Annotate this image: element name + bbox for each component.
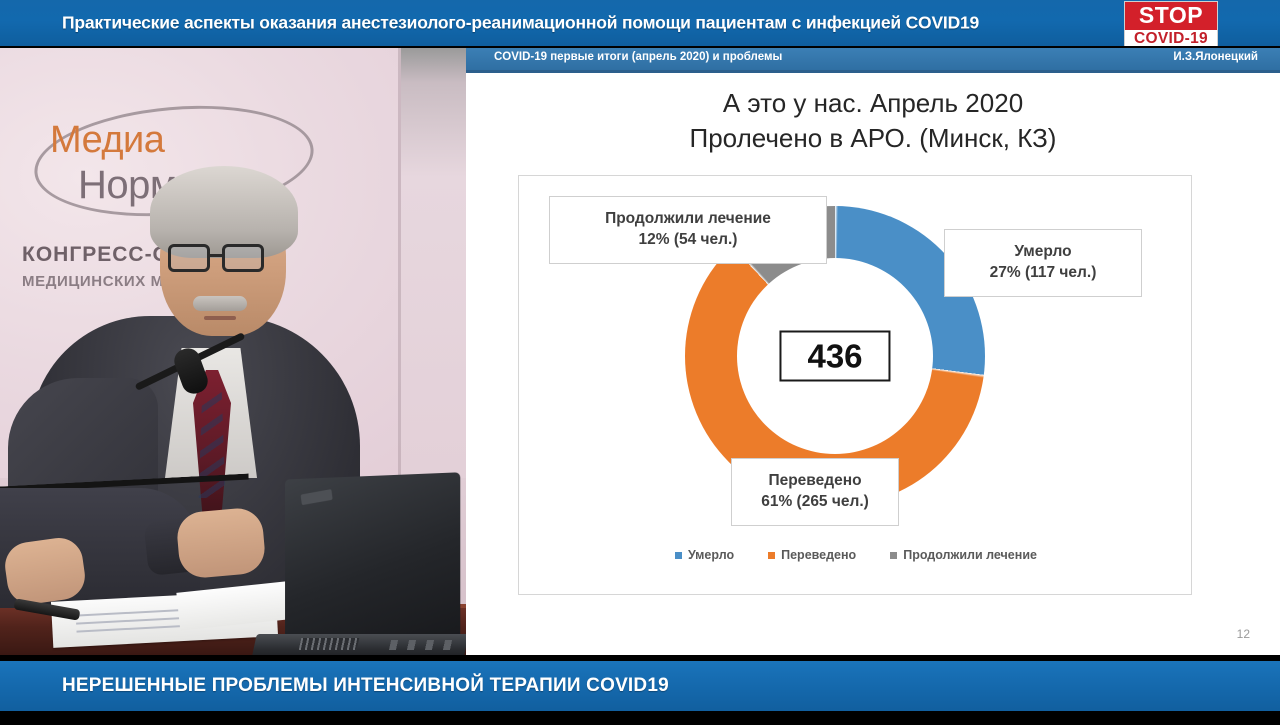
slide-header-bar: COVID-19 первые итоги (апрель 2020) и пр… — [466, 48, 1280, 70]
legend-item-0: Умерло — [675, 548, 734, 562]
backdrop-seam — [398, 48, 401, 478]
logo-text-media: Медиа — [50, 119, 164, 162]
speaker-right-hand — [175, 506, 266, 579]
bottom-black-strip-2 — [0, 711, 1280, 725]
slide-header-author: И.З.Ялонецкий — [1173, 51, 1258, 63]
slide-page-number: 12 — [1237, 627, 1250, 641]
bottom-banner-title: НЕРЕШЕННЫЕ ПРОБЛЕМЫ ИНТЕНСИВНОЙ ТЕРАПИИ … — [62, 675, 669, 697]
doughnut-center-total: 436 — [807, 340, 862, 373]
slide-header-underline — [466, 70, 1280, 73]
legend-swatch-icon — [675, 552, 682, 559]
callout-died-label: Умерло — [959, 242, 1127, 263]
callout-transferred-value: 61% (265 чел.) — [746, 492, 884, 513]
legend-label: Продолжили лечение — [903, 548, 1037, 562]
callout-continued-value: 12% (54 чел.) — [564, 230, 812, 251]
speaker-glasses-bridge — [209, 254, 223, 257]
speaker-glasses-left — [168, 244, 210, 272]
top-banner-title: Практические аспекты оказания анестезиол… — [62, 13, 979, 34]
legend-swatch-icon — [890, 552, 897, 559]
slide-title-line1: А это у нас. Апрель 2020 — [723, 88, 1023, 118]
legend-label: Переведено — [781, 548, 856, 562]
legend-swatch-icon — [768, 552, 775, 559]
speaker-mustache — [193, 296, 247, 311]
presentation-slide-panel: COVID-19 первые итоги (апрель 2020) и пр… — [466, 48, 1280, 655]
bottom-banner: НЕРЕШЕННЫЕ ПРОБЛЕМЫ ИНТЕНСИВНОЙ ТЕРАПИИ … — [0, 661, 1280, 711]
slide-title-line2: Пролечено в АРО. (Минск, КЗ) — [466, 121, 1280, 156]
callout-died: Умерло 27% (117 чел.) — [944, 229, 1142, 297]
callout-died-value: 27% (117 чел.) — [959, 263, 1127, 284]
legend-item-1: Переведено — [768, 548, 856, 562]
speaker-glasses-right — [222, 244, 264, 272]
stop-logo-word: STOP — [1125, 2, 1217, 30]
laptop-screen — [285, 472, 460, 652]
laptop-ports — [389, 640, 457, 650]
callout-transferred-label: Переведено — [746, 471, 884, 492]
legend-item-2: Продолжили лечение — [890, 548, 1037, 562]
laptop-logo — [301, 489, 333, 505]
slide-title: А это у нас. Апрель 2020 Пролечено в АРО… — [466, 86, 1280, 155]
slide-header-topic: COVID-19 первые итоги (апрель 2020) и пр… — [494, 51, 782, 63]
callout-continued-label: Продолжили лечение — [564, 209, 812, 230]
laptop-vent — [299, 638, 360, 650]
speaker-mouth — [204, 316, 236, 320]
backdrop-right-wall — [401, 48, 466, 478]
callout-transferred: Переведено 61% (265 чел.) — [731, 458, 899, 526]
chart-container: 436 Продолжили лечение 12% (54 чел.) Уме… — [518, 175, 1192, 595]
stop-covid-logo: STOP COVID-19 — [1124, 1, 1218, 46]
screenshot-root: Практические аспекты оказания анестезиол… — [0, 0, 1280, 725]
chart-legend: УмерлоПереведеноПродолжили лечение — [519, 548, 1193, 562]
legend-label: Умерло — [688, 548, 734, 562]
doughnut-center-total-box: 436 — [779, 331, 890, 382]
top-banner: Практические аспекты оказания анестезиол… — [0, 0, 1280, 46]
video-feed-panel: Медиа Норма КОНГРЕСС-ОПЕР МЕДИЦИНСКИХ МЕ… — [0, 48, 466, 655]
stop-logo-covid: COVID-19 — [1125, 30, 1217, 46]
callout-continued-treatment: Продолжили лечение 12% (54 чел.) — [549, 196, 827, 264]
logo-subtitle-secondary: МЕДИЦИНСКИХ МЕ — [22, 273, 174, 290]
